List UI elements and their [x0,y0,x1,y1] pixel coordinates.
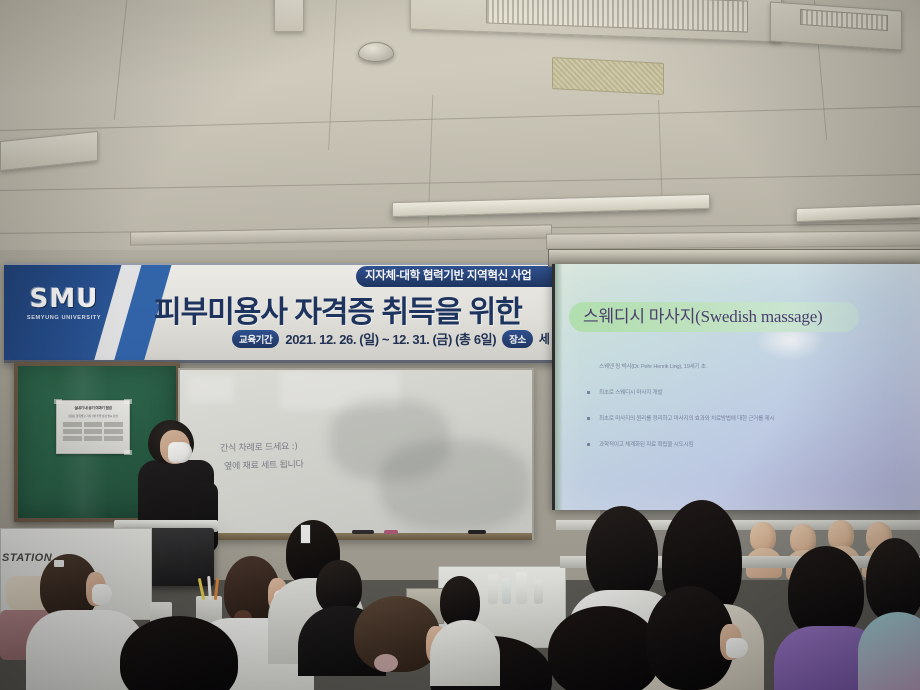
banner-subtitle-text: 지자체-대학 협력기반 지역혁신 사업 [356,266,560,287]
whiteboard-reflection [380,440,530,530]
notice-cell [104,436,123,441]
slide-bullet-text: 과학적이고 체계화된 자료 확립을 시도시킴 [599,440,693,448]
banner-period-label: 교육기간 [232,330,279,348]
marker-pink[interactable] [384,530,398,534]
student-hair [548,606,660,690]
banner-place-value: 세 [539,330,550,347]
notice-cell [63,436,82,441]
screen-left-edge [555,264,563,510]
hair-clip [300,524,311,544]
projector-screen: 스웨디시 마사지(Swedish massage) 스웨덴 링 박사(Dr. P… [552,264,920,510]
marker-black[interactable] [352,530,374,534]
whiteboard-marker-tray [176,533,532,540]
slide-title-text: 스웨디시 마사지(Swedish massage) [569,302,859,332]
smu-logo-main: SMU [18,286,110,312]
slide-bullet-marker [587,417,590,420]
notice-subtitle: 점검표 항목별로 기록 / 매 주말 점검 실시 요망 [57,414,129,418]
ceiling-duct [546,230,920,249]
slide-source-line: 스웨덴 링 박사(Dr. Pehr Henrik Ling), 19세기 초 [599,362,706,370]
smoke-detector-icon [358,42,394,62]
notice-tape [124,399,132,404]
notice-cell [84,436,103,441]
student-hair [866,538,920,622]
notice-cell [63,429,82,434]
face-mask-icon [168,442,192,463]
notice-table [63,422,123,441]
notice-tape [124,450,132,455]
supply-bottle[interactable] [534,580,543,604]
whiteboard-handwriting: 옆에 재료 세트 됩니다 [224,457,304,472]
banner-period-value: 2021. 12. 26. (일) ~ 12. 31. (금) (총 6일) [285,329,496,348]
ceiling-vent [552,57,664,95]
hair-clip [54,560,64,567]
notice-cell [84,422,103,427]
slide-title-pill: 스웨디시 마사지(Swedish massage) [569,302,859,332]
student-hair [788,546,864,638]
whiteboard-glare [188,376,234,402]
slide-bullet-text: 최초로 마사지의 원리를 정리하고 마사지의 효과와 치료방법에 대한 근거를 … [599,414,774,422]
event-banner: SMU SEMYUNG UNIVERSITY 지자체-대학 협력기반 지역혁신 … [4,263,560,363]
notice-cell [84,429,103,434]
notice-title: 실내기 내 공기 여과기 점검 [57,406,129,411]
banner-info-row: 교육기간 2021. 12. 26. (일) ~ 12. 31. (금) (총 … [232,329,550,348]
slide-bullet-marker [587,391,590,394]
ac-side-vent [274,0,304,32]
student-shoulders [430,620,500,686]
supply-bottle[interactable] [516,572,527,604]
notice-tape [54,399,62,404]
notice-cell [63,422,82,427]
smu-logo: SMU SEMYUNG UNIVERSITY [18,286,110,321]
banner-title: 피부미용사 자격증 취득을 위한 [154,287,560,331]
cabinet-label: STATION [2,552,52,564]
student-hair [586,506,658,602]
supply-bottle[interactable] [502,578,511,604]
supply-bottle[interactable] [488,574,498,604]
slide-bullet-marker [587,443,590,446]
posted-notice: 실내기 내 공기 여과기 점검 점검표 항목별로 기록 / 매 주말 점검 실시… [56,400,130,454]
smu-logo-sub: SEMYUNG UNIVERSITY [18,315,110,321]
whiteboard-handwriting: 간식 차례로 드세요 :) [220,439,298,454]
student-shoulders-pastel [858,612,920,690]
whiteboard: 간식 차례로 드세요 :) 옆에 재료 세트 됩니다 [178,368,534,540]
banner-subtitle-ribbon: 지자체-대학 협력기반 지역혁신 사업 [356,266,560,287]
marker-dark[interactable] [468,530,486,534]
classroom-photo: SMU SEMYUNG UNIVERSITY 지자체-대학 협력기반 지역혁신 … [0,0,920,690]
banner-place-label: 장소 [502,330,533,348]
notice-cell [104,422,123,427]
notice-cell [104,429,123,434]
slide-bullet-text: 최초로 스웨디시 마사지 개발 [599,388,662,396]
hair-tie [374,654,398,672]
